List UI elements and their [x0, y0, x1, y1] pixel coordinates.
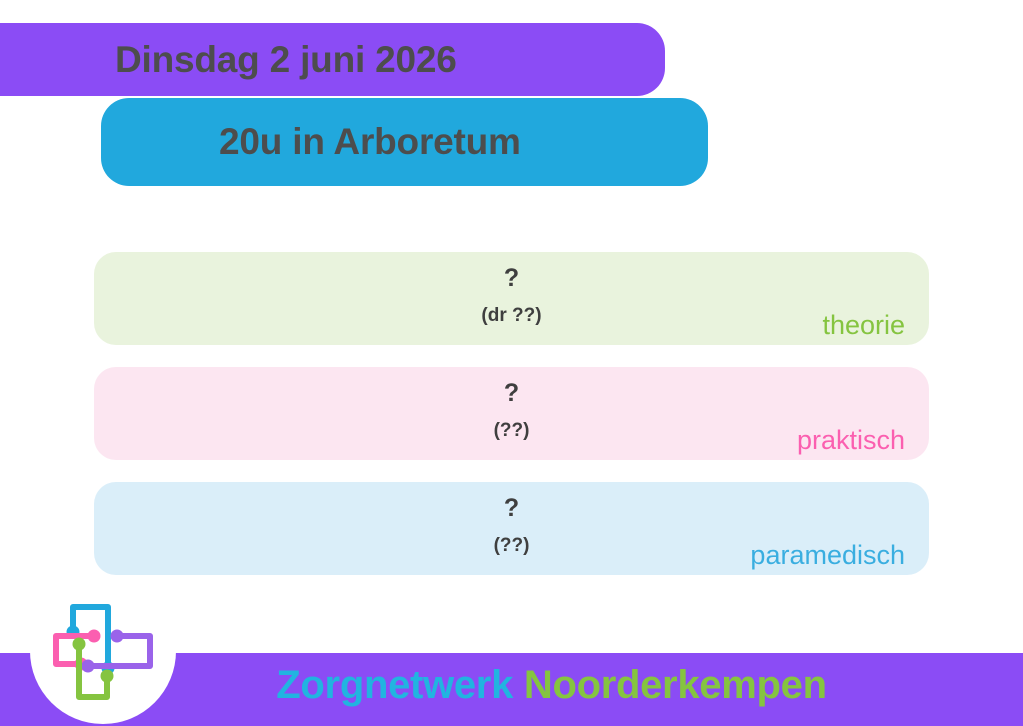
footer-brand-primary: Zorgnetwerk	[276, 663, 513, 707]
session-title: ?	[94, 264, 929, 293]
session-card-list: ? (dr ??) theorie ? (??) praktisch ? (??…	[94, 252, 929, 597]
session-category-tag: praktisch	[797, 427, 905, 454]
footer-brand-secondary: Noorderkempen	[524, 663, 827, 707]
session-card-praktisch[interactable]: ? (??) praktisch	[94, 367, 929, 460]
session-card-paramedisch[interactable]: ? (??) paramedisch	[94, 482, 929, 575]
date-banner-label: Dinsdag 2 juni 2026	[115, 39, 457, 81]
time-location-label: 20u in Arboretum	[219, 121, 521, 163]
session-speaker: (dr ??)	[94, 306, 929, 327]
session-category-tag: paramedisch	[750, 542, 905, 569]
date-banner: Dinsdag 2 juni 2026	[0, 23, 665, 96]
logo	[30, 578, 176, 724]
session-title: ?	[94, 379, 929, 408]
event-poster-slide: Dinsdag 2 juni 2026 20u in Arboretum ? (…	[0, 0, 1023, 726]
session-card-theorie[interactable]: ? (dr ??) theorie	[94, 252, 929, 345]
time-location-banner: 20u in Arboretum	[101, 98, 708, 186]
session-title: ?	[94, 494, 929, 523]
network-cross-icon	[47, 592, 161, 710]
session-card-text-block: ? (dr ??)	[94, 264, 929, 327]
session-category-tag: theorie	[822, 312, 905, 339]
